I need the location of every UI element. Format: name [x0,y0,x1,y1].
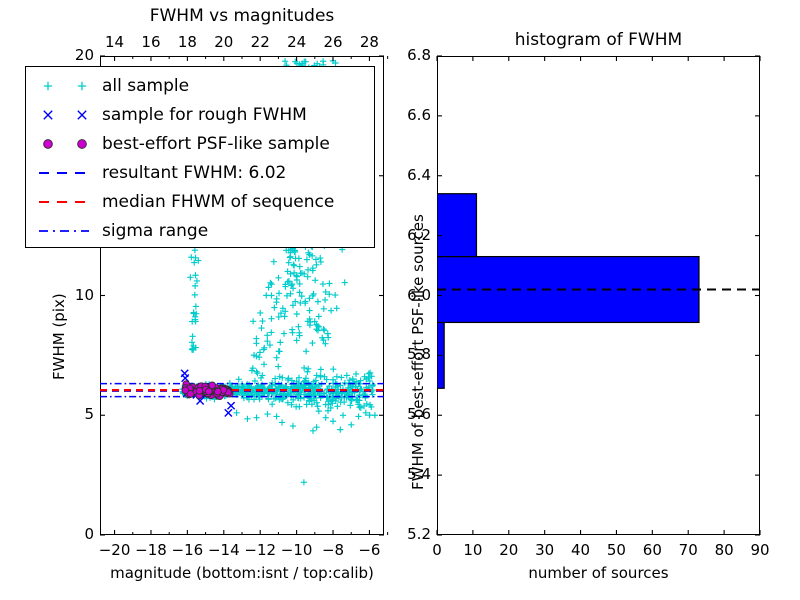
left-ytick-label: 0 [58,525,94,543]
right-xtick-label: 10 [453,541,493,559]
legend-item-label: sample for rough FWHM [102,105,307,125]
right-ytick-label: 6.4 [389,166,431,184]
legend-item[interactable]: all sample [102,71,189,101]
right-ytick-label: 5.8 [389,345,431,363]
legend-item[interactable]: resultant FWHM: 6.02 [102,158,286,188]
left-ytick-label: 5 [58,405,94,423]
legend-item[interactable]: best-effort PSF-like sample [102,129,330,159]
legend-item-label: resultant FWHM: 6.02 [102,163,286,183]
right-xtick-label: 70 [668,541,708,559]
right-ytick-label: 6.8 [389,46,431,64]
right-xtick-label: 30 [525,541,565,559]
right-xtick-label: 0 [417,541,457,559]
left-ytick-label: 20 [58,46,94,64]
left-ytick-label: 10 [58,286,94,304]
legend-item-label: median FHWM of sequence [102,192,334,212]
legend-item[interactable]: sample for rough FWHM [102,100,307,130]
right-ytick-label: 6.6 [389,106,431,124]
legend-item-label: sigma range [102,221,208,241]
right-ytick-label: 5.2 [389,525,431,543]
right-xtick-label: 40 [561,541,601,559]
legend-box: all sample sample for rough FWHM best-ef… [25,66,375,248]
figure-canvas: FWHM vs magnitudes magnitude (bottom:isn… [0,0,800,600]
right-ytick-label: 6.0 [389,286,431,304]
right-ytick-label: 5.4 [389,465,431,483]
right-xtick-label: 50 [596,541,636,559]
left-toptick-label: 28 [347,33,391,51]
legend-item-label: best-effort PSF-like sample [102,134,330,154]
right-xtick-label: 90 [740,541,780,559]
right-xtick-label: 20 [489,541,529,559]
right-xaxis-label: number of sources [437,564,760,582]
legend-item-label: all sample [102,76,189,96]
legend-item[interactable]: sigma range [102,216,208,246]
right-xtick-label: 60 [632,541,672,559]
right-ytick-label: 5.6 [389,405,431,423]
right-xtick-label: 80 [704,541,744,559]
left-xtick-label: −6 [347,541,391,559]
right-ytick-label: 6.2 [389,226,431,244]
legend-item[interactable]: median FHWM of sequence [102,187,334,217]
